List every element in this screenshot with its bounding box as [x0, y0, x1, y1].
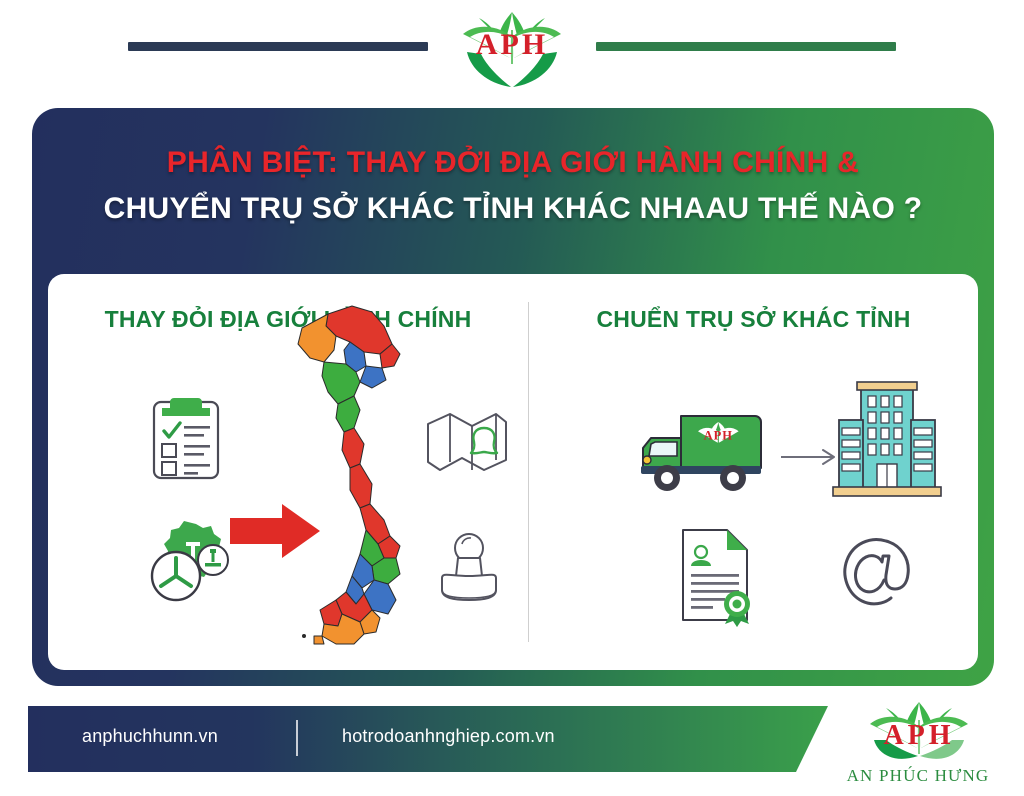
- infographic-page: APH PHÂN BIỆT: THAY ĐỞI ĐỊA GIỚI HÀNH CH…: [0, 0, 1024, 796]
- left-icon-group: [48, 274, 528, 670]
- svg-text:APH: APH: [476, 28, 548, 61]
- rubber-stamp-icon: [426, 530, 512, 612]
- footer-separator: [296, 720, 298, 756]
- certificate-document-icon: [669, 524, 761, 630]
- header-rule-right: [596, 42, 896, 51]
- aph-logo-caption: AN PHÚC HƯNG: [836, 766, 1000, 786]
- card-title: PHÂN BIỆT: THAY ĐỞI ĐỊA GIỚI HÀNH CHÍNH …: [32, 144, 994, 229]
- column-move-headquarters: CHUỂN TRỤ SỞ KHÁC TỈNH: [529, 274, 978, 670]
- right-icon-group: APH: [529, 274, 978, 670]
- footer-bar: anphuchhunn.vn hotrodoanhnghiep.com.vn: [28, 706, 828, 772]
- footer-url-secondary[interactable]: hotrodoanhnghiep.com.vn: [342, 726, 555, 747]
- title-line-2: CHUYỂN TRỤ SỞ KHÁC TỈNH KHÁC NHAAU THẾ N…: [32, 190, 994, 228]
- title-line-1: PHÂN BIỆT: THAY ĐỞI ĐỊA GIỚI HÀNH CHÍNH …: [32, 144, 994, 182]
- footer-url-primary[interactable]: anphuchhunn.vn: [82, 726, 218, 747]
- delivery-truck-icon: APH: [637, 400, 765, 500]
- svg-text:APH: APH: [704, 429, 733, 443]
- main-card: PHÂN BIỆT: THAY ĐỞI ĐỊA GIỚI HÀNH CHÍNH …: [32, 108, 994, 686]
- office-building-icon: [829, 374, 945, 500]
- aph-logo-top: APH: [437, 8, 587, 96]
- clock-gear-icon: [144, 516, 236, 608]
- at-sign-icon: [827, 526, 925, 624]
- column-administrative-boundary: THAY ĐỎI ĐỊA GIỚI HÀNH CHÍNH: [48, 274, 528, 670]
- header-rule-left: [128, 42, 428, 51]
- vietnam-map-icon: [280, 292, 416, 652]
- folded-map-icon: [422, 404, 512, 480]
- aph-logo-footer: APH AN PHÚC HƯNG: [836, 692, 1000, 788]
- clipboard-checklist-icon: [144, 390, 228, 486]
- svg-text:APH: APH: [883, 720, 954, 751]
- top-bar: APH: [0, 0, 1024, 100]
- content-panel: THAY ĐỎI ĐỊA GIỚI HÀNH CHÍNH: [48, 274, 978, 670]
